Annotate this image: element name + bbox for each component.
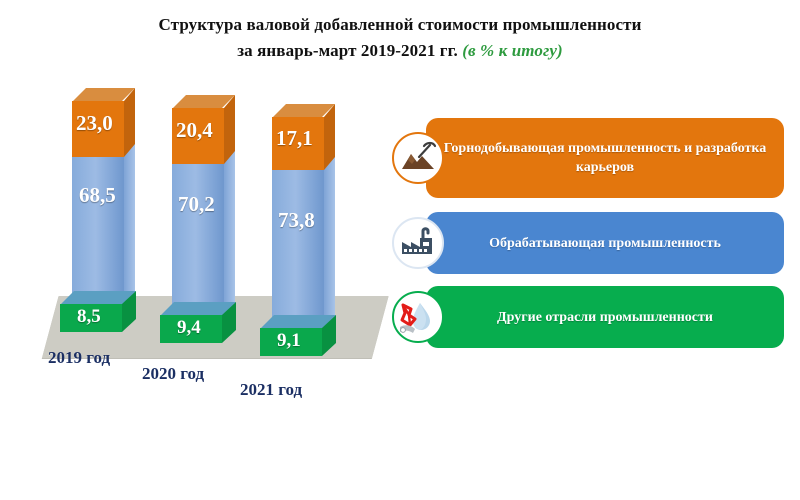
title-line-2-main: за январь-март 2019-2021 гг.: [237, 41, 462, 60]
bar-2021-value-manufacturing: 73,8: [278, 208, 315, 233]
factory-icon: [392, 217, 444, 269]
infographic-canvas: Структура валовой добавленной стоимости …: [0, 0, 800, 500]
legend-label-other: Другие отрасли промышленности: [426, 286, 784, 348]
mining-pickaxe-mountain-icon: [392, 132, 444, 184]
legend-label-mining: Горнодобывающая промышленность и разрабо…: [426, 118, 784, 198]
title-line-2: за январь-март 2019-2021 гг. (в % к итог…: [0, 38, 800, 64]
bar-2019-value-other: 8,5: [77, 306, 101, 328]
axis-label-2020: 2020 год: [142, 364, 204, 384]
bar-2020-value-other: 9,4: [177, 317, 201, 339]
bar-2020-value-manufacturing: 70,2: [178, 192, 215, 217]
title-subtitle-units: (в % к итогу): [462, 41, 563, 60]
axis-label-2019: 2019 год: [48, 348, 110, 368]
bar-2020-value-mining: 20,4: [176, 118, 213, 143]
bar-2019-value-manufacturing: 68,5: [79, 183, 116, 208]
page-title: Структура валовой добавленной стоимости …: [0, 12, 800, 64]
bar-2021-value-mining: 17,1: [276, 126, 313, 151]
axis-label-2021: 2021 год: [240, 380, 302, 400]
title-line-1: Структура валовой добавленной стоимости …: [0, 12, 800, 38]
legend-label-manufacturing: Обрабатывающая промышленность: [426, 212, 784, 274]
bar-2019-value-mining: 23,0: [76, 111, 113, 136]
industry-wrench-droplet-icon: [392, 291, 444, 343]
bar-2021-value-other: 9,1: [277, 330, 301, 352]
